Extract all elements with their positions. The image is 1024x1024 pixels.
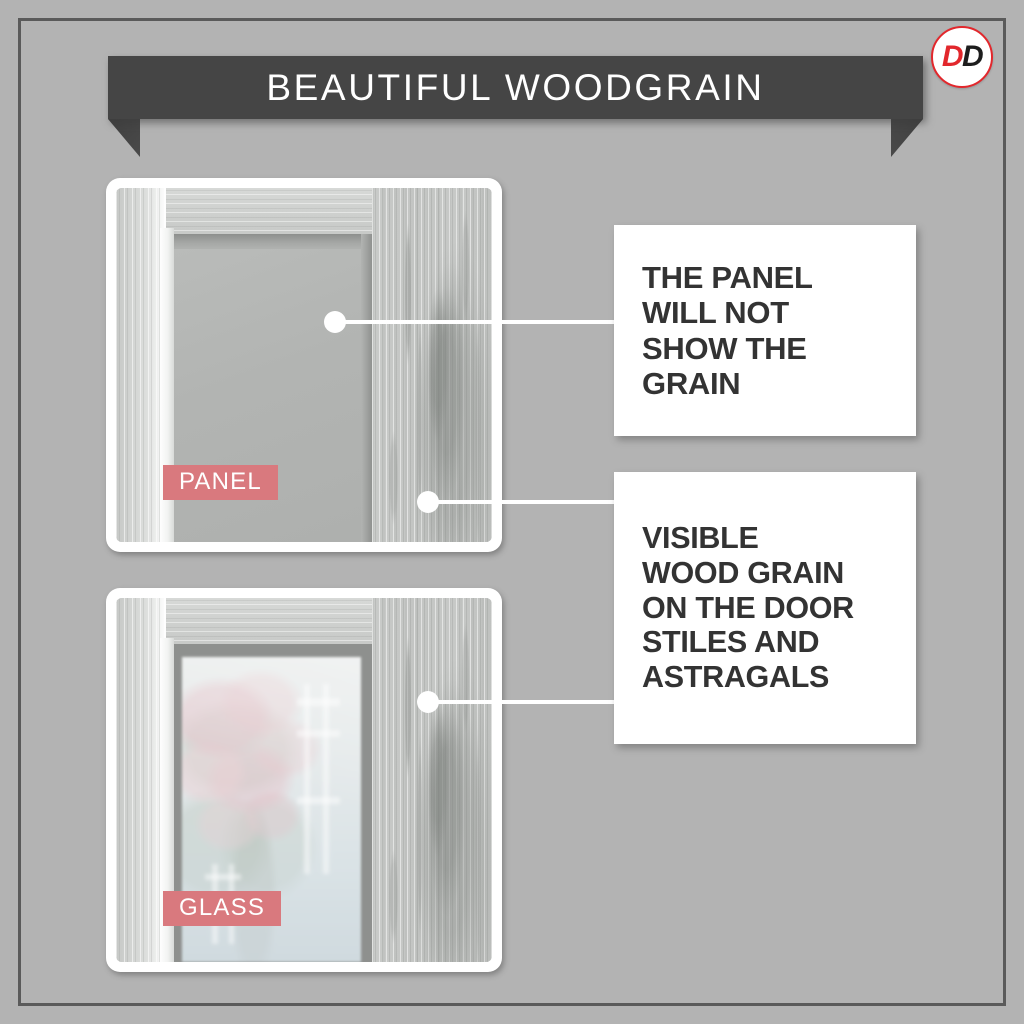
glass-photo-image: GLASS <box>116 598 492 962</box>
woodgrain-stile-glass <box>372 598 492 962</box>
leader-dot-grain-bottom <box>417 691 439 713</box>
panel-shadow-top <box>174 234 372 249</box>
ribbon-tail-left <box>108 119 140 157</box>
leader-line-grain-bottom <box>428 700 615 704</box>
callout-panel-text: THE PANEL WILL NOT SHOW THE GRAIN <box>642 260 813 401</box>
callout-grain-text: VISIBLE WOOD GRAIN ON THE DOOR STILES AN… <box>642 521 854 695</box>
logo-letter-second: D <box>962 40 982 73</box>
leader-line-panel <box>335 320 615 324</box>
leader-dot-panel <box>324 311 346 333</box>
infographic-canvas: BEAUTIFUL WOODGRAIN DD PANEL <box>0 0 1024 1024</box>
logo-text: DD <box>942 42 982 72</box>
door-left-stile-panel <box>116 188 166 542</box>
ribbon-tail-right <box>891 119 923 157</box>
door-left-stile-glass <box>116 598 166 962</box>
logo-letter-first: D <box>942 40 962 73</box>
panel-shadow-right <box>361 234 372 542</box>
glass-photo-card[interactable]: GLASS <box>106 588 502 972</box>
brand-logo[interactable]: DD <box>931 26 993 88</box>
panel-photo-card[interactable]: PANEL <box>106 178 502 552</box>
woodgrain-stile-panel <box>372 188 492 542</box>
glass-badge: GLASS <box>163 891 281 926</box>
leader-line-grain-top <box>428 500 615 504</box>
header-ribbon: BEAUTIFUL WOODGRAIN <box>108 56 923 158</box>
page-title: BEAUTIFUL WOODGRAIN <box>108 56 923 119</box>
leader-dot-grain-top <box>417 491 439 513</box>
callout-panel: THE PANEL WILL NOT SHOW THE GRAIN <box>614 225 916 436</box>
callout-grain: VISIBLE WOOD GRAIN ON THE DOOR STILES AN… <box>614 472 916 744</box>
panel-badge: PANEL <box>163 465 278 500</box>
panel-photo-image: PANEL <box>116 188 492 542</box>
